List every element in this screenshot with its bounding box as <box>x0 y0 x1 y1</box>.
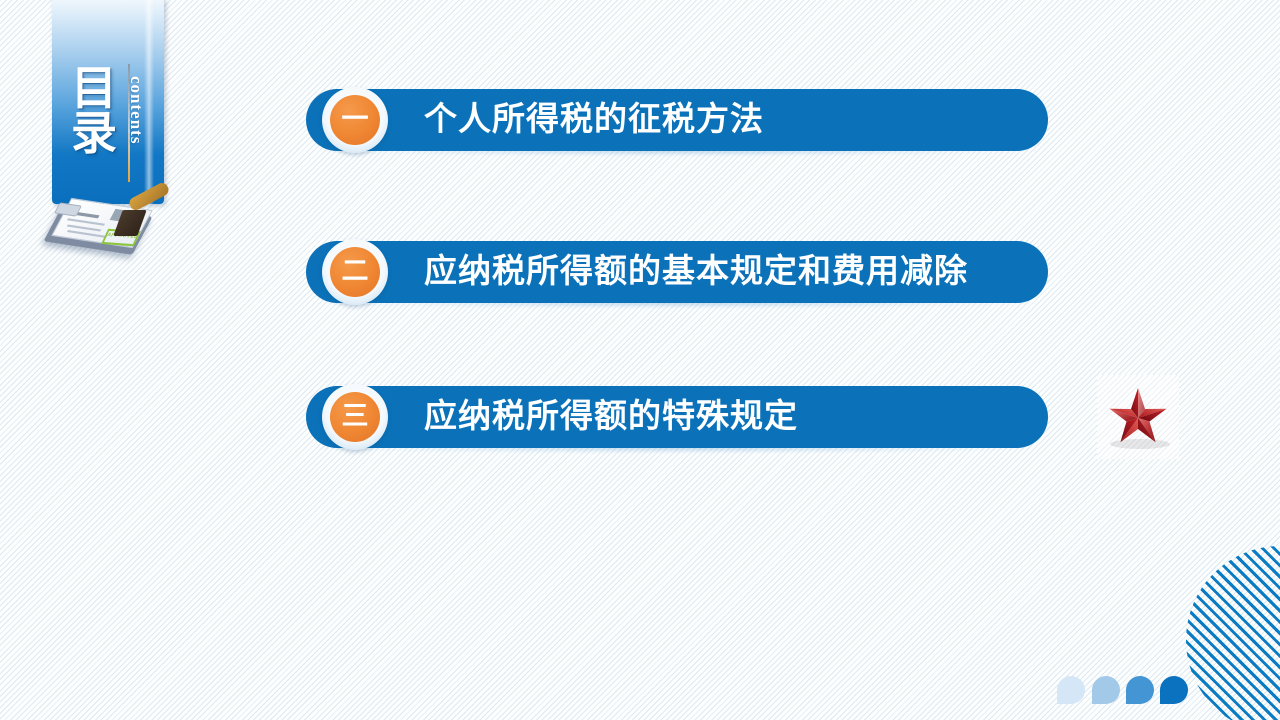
banner-title-char-2: 录 <box>66 111 122 156</box>
drop-shape-2 <box>1092 676 1120 704</box>
drop-shape-3 <box>1126 676 1154 704</box>
item-number-label: 一 <box>330 95 380 145</box>
contents-banner: 目 录 contents <box>52 0 164 204</box>
red-star-icon <box>1097 375 1179 459</box>
drop-shape-4 <box>1160 676 1188 704</box>
item-number-badge: 二 <box>322 239 388 305</box>
clipboard-illustration: APPROVED <box>44 186 176 264</box>
drop-shape-1 <box>1057 676 1085 704</box>
banner-title-en: contents <box>126 76 146 184</box>
contents-item-3[interactable]: 三 应纳税所得额的特殊规定 <box>306 386 1048 448</box>
drop-decoration-group <box>1057 676 1189 706</box>
item-number-label: 二 <box>330 247 380 297</box>
striped-circle-decoration <box>1186 546 1280 720</box>
slide-canvas: 目 录 contents APPROVED 一 个人所得税的征税方法 二 <box>0 0 1280 720</box>
item-label: 个人所得税的征税方法 <box>424 89 764 151</box>
stamp-handle <box>127 181 170 212</box>
item-label: 应纳税所得额的基本规定和费用减除 <box>424 241 968 303</box>
banner-title-cn: 目 录 <box>66 66 122 156</box>
banner-title-char-1: 目 <box>66 66 122 111</box>
item-number-label: 三 <box>330 392 380 442</box>
item-label: 应纳税所得额的特殊规定 <box>424 386 798 448</box>
contents-item-1[interactable]: 一 个人所得税的征税方法 <box>306 89 1048 151</box>
item-number-badge: 三 <box>322 384 388 450</box>
item-number-badge: 一 <box>322 87 388 153</box>
red-star-image <box>1097 375 1179 459</box>
contents-item-2[interactable]: 二 应纳税所得额的基本规定和费用减除 <box>306 241 1048 303</box>
